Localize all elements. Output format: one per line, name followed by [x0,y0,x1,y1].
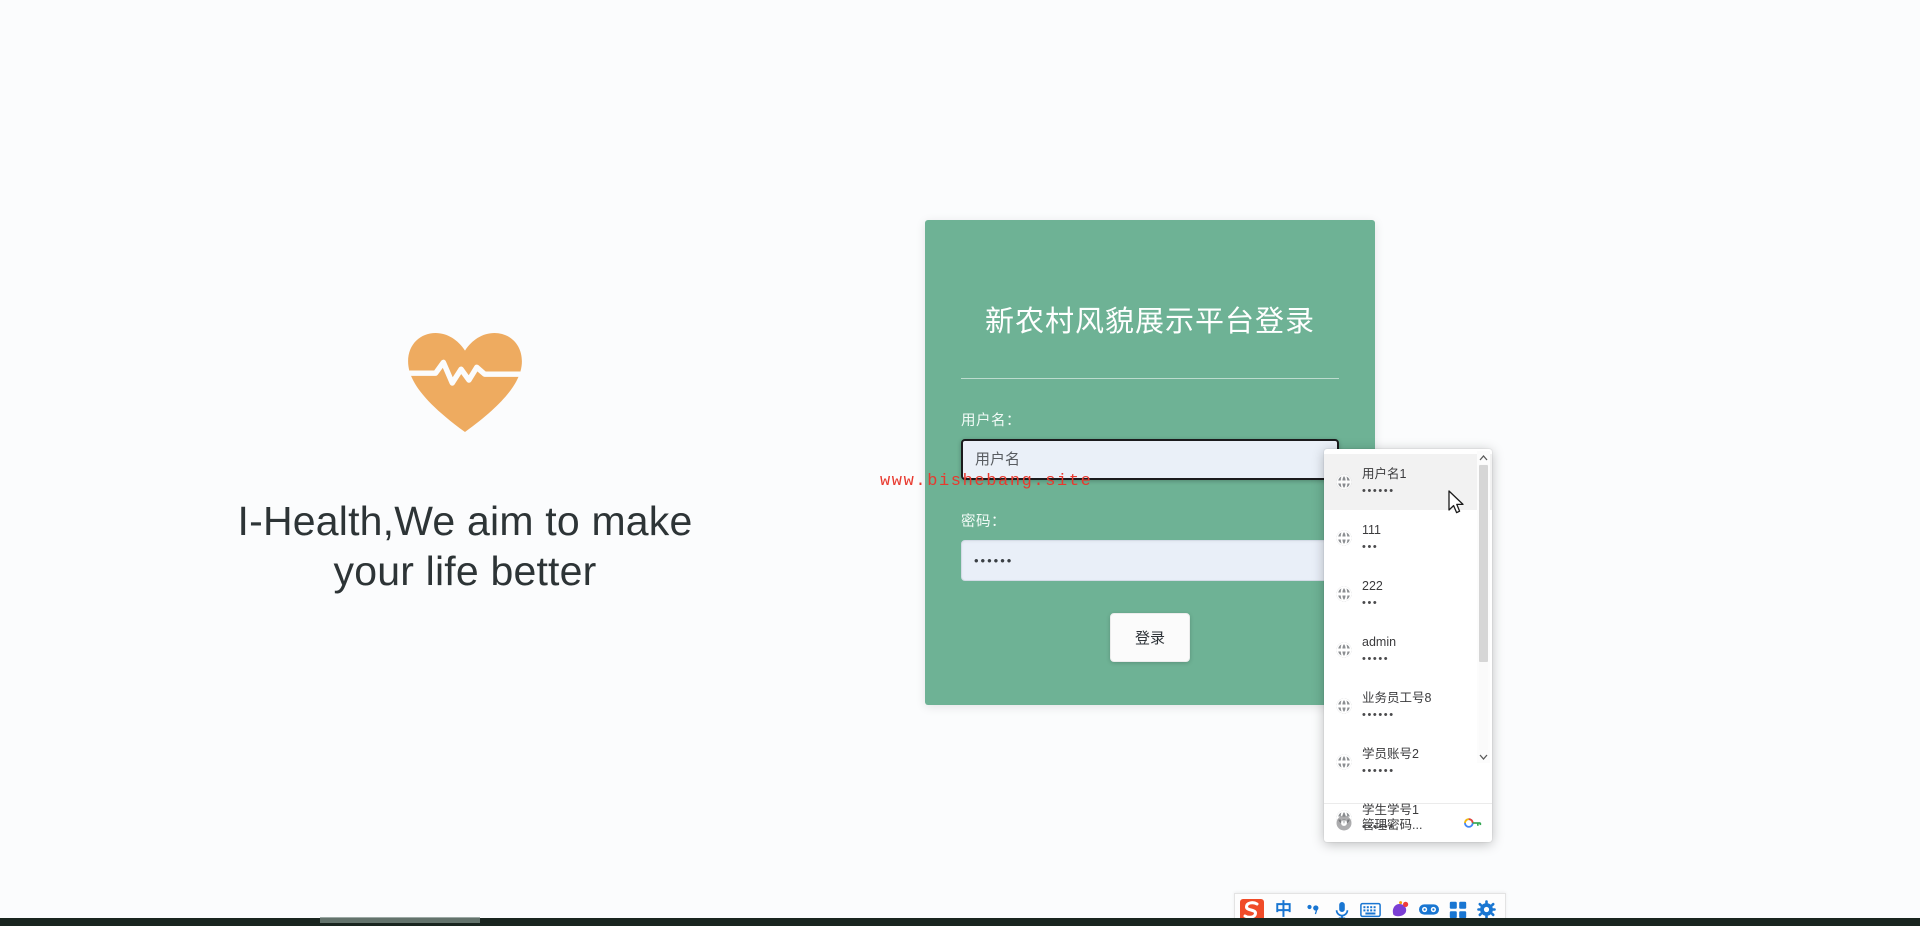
username-label: 用户名： [961,409,1339,430]
autofill-list: 用户名1 •••••• 111 ••• 222 ••• [1324,449,1492,803]
autofill-password-mask: •••••• [1362,822,1419,833]
login-submit-button[interactable]: 登录 [1110,613,1190,662]
autofill-username: admin [1362,635,1396,651]
autofill-scrollbar-thumb[interactable] [1479,465,1488,662]
autofill-item[interactable]: admin ••••• [1324,622,1492,678]
autofill-password-mask: ••••• [1362,654,1396,665]
password-field-block: 密码： •••••• [961,510,1339,581]
username-input[interactable] [961,439,1339,480]
login-card: 新农村风貌展示平台登录 用户名： 密码： •••••• 登录 [925,220,1375,705]
autofill-item-text: 学生学号1 •••••• [1362,803,1419,834]
chevron-down-icon[interactable] [1477,750,1490,763]
autofill-item-text: 学员账号2 •••••• [1362,747,1419,778]
globe-icon [1335,697,1353,715]
autofill-item[interactable]: 业务员工号8 •••••• [1324,678,1492,734]
autofill-username: 222 [1362,579,1383,595]
password-input[interactable]: •••••• [961,540,1339,581]
password-masked-value: •••••• [974,553,1013,568]
chrome-icon [1335,814,1353,832]
autofill-username: 学生学号1 [1362,803,1419,819]
os-taskbar-window-button[interactable] [320,917,480,923]
autofill-item-text: 111 ••• [1362,523,1381,554]
brand-block: I-Health,We aim to make your life better [170,330,760,596]
autofill-item[interactable]: 222 ••• [1324,566,1492,622]
chevron-up-icon[interactable] [1477,451,1490,464]
username-field-block: 用户名： [961,409,1339,480]
autofill-username: 用户名1 [1362,467,1406,483]
autofill-item-text: 222 ••• [1362,579,1383,610]
globe-icon [1335,585,1353,603]
autofill-username: 111 [1362,523,1381,539]
autofill-password-mask: •••••• [1362,710,1431,721]
autofill-item[interactable]: 用户名1 •••••• [1324,454,1492,510]
autofill-password-mask: ••• [1362,542,1381,553]
brand-tagline: I-Health,We aim to make your life better [170,496,760,596]
page-stage: I-Health,We aim to make your life better… [0,0,1920,926]
autofill-item-text: 用户名1 •••••• [1362,467,1406,498]
autofill-dropdown[interactable]: 用户名1 •••••• 111 ••• 222 ••• [1324,449,1492,842]
brand-tagline-line1: I-Health,We aim to make [170,496,760,546]
password-label: 密码： [961,510,1339,531]
globe-icon [1335,753,1353,771]
autofill-password-mask: •••••• [1362,486,1406,497]
autofill-item-text: 业务员工号8 •••••• [1362,691,1431,722]
heart-pulse-icon [406,330,524,434]
page-title: 新农村风貌展示平台登录 [925,220,1375,340]
autofill-scrollbar[interactable] [1477,451,1490,763]
autofill-item[interactable]: 111 ••• [1324,510,1492,566]
autofill-item[interactable]: 学员账号2 •••••• [1324,734,1492,790]
login-button-row: 登录 [925,613,1375,662]
globe-icon [1335,529,1353,547]
autofill-item-text: admin ••••• [1362,635,1396,666]
globe-icon [1335,641,1353,659]
os-taskbar[interactable] [0,918,1920,926]
autofill-username: 业务员工号8 [1362,691,1431,707]
brand-tagline-line2: your life better [170,546,760,596]
autofill-password-mask: ••• [1362,598,1383,609]
autofill-username: 学员账号2 [1362,747,1419,763]
globe-icon [1335,473,1353,491]
title-divider [961,378,1339,379]
autofill-password-mask: •••••• [1362,766,1419,777]
